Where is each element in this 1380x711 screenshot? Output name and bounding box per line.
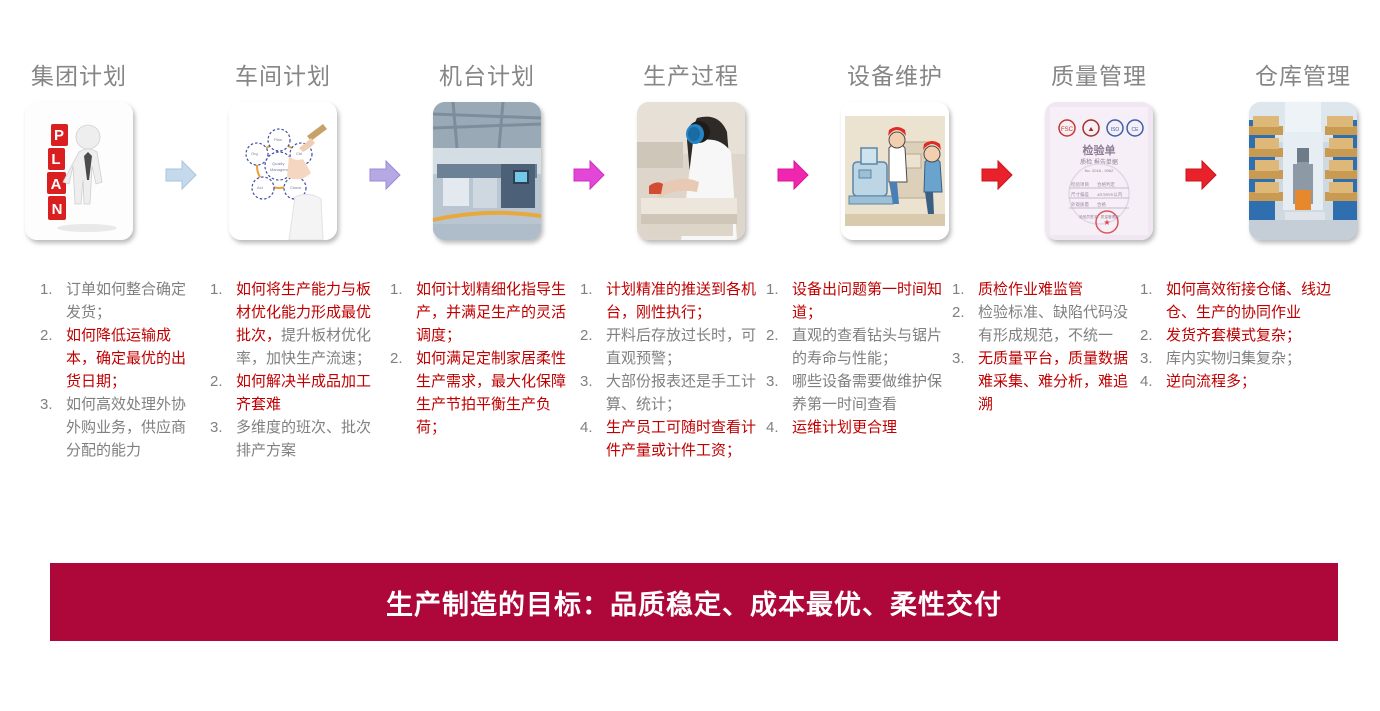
svg-text:Act: Act — [257, 185, 264, 190]
arrow-cell-1 — [158, 62, 204, 262]
quality-diagram-image: QualityManagement PlanOrg CtrlActCheck — [229, 102, 337, 240]
stage-title: 质量管理 — [1051, 62, 1147, 90]
svg-text:尺寸偏差: 尺寸偏差 — [1071, 191, 1089, 198]
svg-text:⛰: ⛰ — [1088, 126, 1093, 133]
list-item: 如何高效处理外协外购业务，供应商分配的能力 — [38, 393, 200, 462]
column-quality-management-issues: 质检作业难监管 检验标准、缺陷代码没有形成规范，不统一 无质量平台，质量数据难采… — [950, 278, 1138, 528]
bullet-list: 如何高效衔接仓储、线边仓、生产的协同作业 发货齐套模式复杂； 库内实物归集复杂；… — [1138, 278, 1338, 393]
stage-equipment-maintenance[interactable]: 设备维护 — [816, 62, 974, 240]
arrow-cell-5 — [974, 62, 1020, 262]
issues-columns: 订单如何整合确定发货； 如何降低运输成本，确定最优的出货日期； 如何高效处理外协… — [0, 278, 1380, 528]
svg-text:Ctrl: Ctrl — [296, 151, 302, 156]
stage-title: 车间计划 — [235, 62, 331, 90]
column-equipment-maintenance-issues: 设备出问题第一时间知道； 直观的查看钻头与锯片的寿命与性能； 哪些设备需要做维护… — [762, 278, 950, 528]
list-item: 哪些设备需要做维护保养第一时间查看 — [764, 370, 950, 416]
list-item: 如何满足定制家居柔性生产需求，最大化保障生产节拍平衡生产负荷； — [388, 347, 574, 439]
svg-text:Check: Check — [290, 185, 301, 190]
arrow-2-icon — [368, 159, 402, 191]
svg-text:检验项目: 检验项目 — [1071, 181, 1089, 188]
stage-machine-plan[interactable]: 机台计划 — [408, 62, 566, 240]
stage-production-process[interactable]: 生产过程 — [612, 62, 770, 240]
svg-text:CE: CE — [1132, 127, 1140, 133]
svg-text:外观质量: 外观质量 — [1071, 201, 1089, 208]
list-item: 订单如何整合确定发货； — [38, 278, 200, 324]
warehouse-forklift-image — [1249, 102, 1357, 240]
list-item: 生产员工可随时查看计件产量或计件工资； — [578, 416, 762, 462]
stage-quality-management[interactable]: 质量管理 FSC ⛰ ISO CE 检验单 质检 报告单据 — [1020, 62, 1178, 240]
svg-text:N: N — [52, 201, 63, 218]
certificate-image: FSC ⛰ ISO CE 检验单 质检 报告单据 No. 2018 - 0062 — [1045, 102, 1153, 240]
arrow-cell-2 — [362, 62, 408, 262]
stage-title: 仓库管理 — [1255, 62, 1351, 90]
list-item: 质检作业难监管 — [950, 278, 1138, 301]
list-item: 多维度的班次、批次排产方案 — [208, 416, 384, 462]
bullet-list: 订单如何整合确定发货； 如何降低运输成本，确定最优的出货日期； 如何高效处理外协… — [38, 278, 200, 462]
list-item: 无质量平台，质量数据难采集、难分析，难追溯 — [950, 347, 1138, 416]
goal-banner: 生产制造的目标：品质稳定、成本最优、柔性交付 — [50, 563, 1338, 641]
arrow-cell-4 — [770, 62, 816, 262]
arrow-3-icon — [572, 159, 606, 191]
arrow-1-icon — [164, 159, 198, 191]
worker-cutting-image — [637, 102, 745, 240]
arrow-6-icon — [1184, 159, 1218, 191]
list-item: 开料后存放过长时，可直观预警； — [578, 324, 762, 370]
stage-group-plan[interactable]: 集团计划 PL AN — [0, 62, 158, 240]
bullet-list: 计划精准的推送到各机台，刚性执行； 开料后存放过长时，可直观预警； 大部份报表还… — [578, 278, 762, 462]
list-item: 直观的查看钻头与锯片的寿命与性能； — [764, 324, 950, 370]
bullet-list: 如何计划精细化指导生产，并满足生产的灵活调度； 如何满足定制家居柔性生产需求，最… — [388, 278, 574, 439]
svg-text:Plan: Plan — [274, 137, 282, 142]
list-item: 逆向流程多； — [1138, 370, 1338, 393]
list-item: 如何将生产能力与板材优化能力形成最优批次，提升板材优化率，加快生产流速； — [208, 278, 384, 370]
svg-text:No. 2018 - 0062: No. 2018 - 0062 — [1085, 168, 1114, 173]
list-item: 检验标准、缺陷代码没有形成规范，不统一 — [950, 301, 1138, 347]
svg-text:ISO: ISO — [1111, 127, 1120, 133]
column-production-process-issues: 计划精准的推送到各机台，刚性执行； 开料后存放过长时，可直观预警； 大部份报表还… — [574, 278, 762, 528]
stage-title: 集团计划 — [31, 62, 127, 90]
process-flow-row: 集团计划 PL AN — [0, 62, 1380, 262]
list-item: 库内实物归集复杂； — [1138, 347, 1338, 370]
column-workshop-plan-issues: 如何将生产能力与板材优化能力形成最优批次，提升板材优化率，加快生产流速； 如何解… — [200, 278, 384, 528]
list-item: 如何高效衔接仓储、线边仓、生产的协同作业 — [1138, 278, 1338, 324]
list-item: 运维计划更合理 — [764, 416, 950, 439]
svg-text:检验员签字：质量管理部: 检验员签字：质量管理部 — [1079, 214, 1119, 219]
list-item: 如何降低运输成本，确定最优的出货日期； — [38, 324, 200, 393]
factory-machine-image — [433, 102, 541, 240]
list-item: 计划精准的推送到各机台，刚性执行； — [578, 278, 762, 324]
plan-figure-image: PL AN — [25, 102, 133, 240]
stage-warehouse-management[interactable]: 仓库管理 — [1224, 62, 1380, 240]
arrow-cell-3 — [566, 62, 612, 262]
column-warehouse-management-issues: 如何高效衔接仓储、线边仓、生产的协同作业 发货齐套模式复杂； 库内实物归集复杂；… — [1138, 278, 1338, 528]
list-item: 发货齐套模式复杂； — [1138, 324, 1338, 347]
svg-text:A: A — [51, 176, 62, 193]
bullet-list: 设备出问题第一时间知道； 直观的查看钻头与锯片的寿命与性能； 哪些设备需要做维护… — [764, 278, 950, 439]
bullet-list: 如何将生产能力与板材优化能力形成最优批次，提升板材优化率，加快生产流速； 如何解… — [208, 278, 384, 462]
svg-text:质检 报告单据: 质检 报告单据 — [1080, 158, 1118, 166]
column-machine-plan-issues: 如何计划精细化指导生产，并满足生产的灵活调度； 如何满足定制家居柔性生产需求，最… — [384, 278, 574, 528]
stage-title: 设备维护 — [847, 62, 943, 90]
arrow-5-icon — [980, 159, 1014, 191]
bullet-list: 质检作业难监管 检验标准、缺陷代码没有形成规范，不统一 无质量平台，质量数据难采… — [950, 278, 1138, 416]
list-item: 如何解决半成品加工齐套难 — [208, 370, 384, 416]
column-group-plan-issues: 订单如何整合确定发货； 如何降低运输成本，确定最优的出货日期； 如何高效处理外协… — [0, 278, 200, 528]
goal-banner-text: 生产制造的目标：品质稳定、成本最优、柔性交付 — [386, 583, 1002, 622]
stage-title: 机台计划 — [439, 62, 535, 90]
list-item: 大部份报表还是手工计算、统计； — [578, 370, 762, 416]
list-item: 如何计划精细化指导生产，并满足生产的灵活调度； — [388, 278, 574, 347]
list-item: 设备出问题第一时间知道； — [764, 278, 950, 324]
svg-text:±0.5mm以内: ±0.5mm以内 — [1097, 191, 1123, 198]
svg-text:合格: 合格 — [1097, 201, 1106, 208]
svg-text:L: L — [51, 151, 60, 168]
svg-text:合格判定: 合格判定 — [1097, 181, 1115, 188]
motor-maintenance-image — [841, 102, 949, 240]
svg-text:FSC: FSC — [1061, 127, 1074, 133]
svg-text:检验单: 检验单 — [1083, 143, 1116, 157]
svg-text:Quality: Quality — [272, 161, 284, 166]
svg-text:Org: Org — [251, 151, 258, 156]
arrow-cell-6 — [1178, 62, 1224, 262]
svg-text:P: P — [54, 127, 64, 144]
stage-title: 生产过程 — [643, 62, 739, 90]
svg-text:★: ★ — [1103, 218, 1110, 227]
stage-workshop-plan[interactable]: 车间计划 QualityManagement PlanOrg CtrlActCh… — [204, 62, 362, 240]
arrow-4-icon — [776, 159, 810, 191]
